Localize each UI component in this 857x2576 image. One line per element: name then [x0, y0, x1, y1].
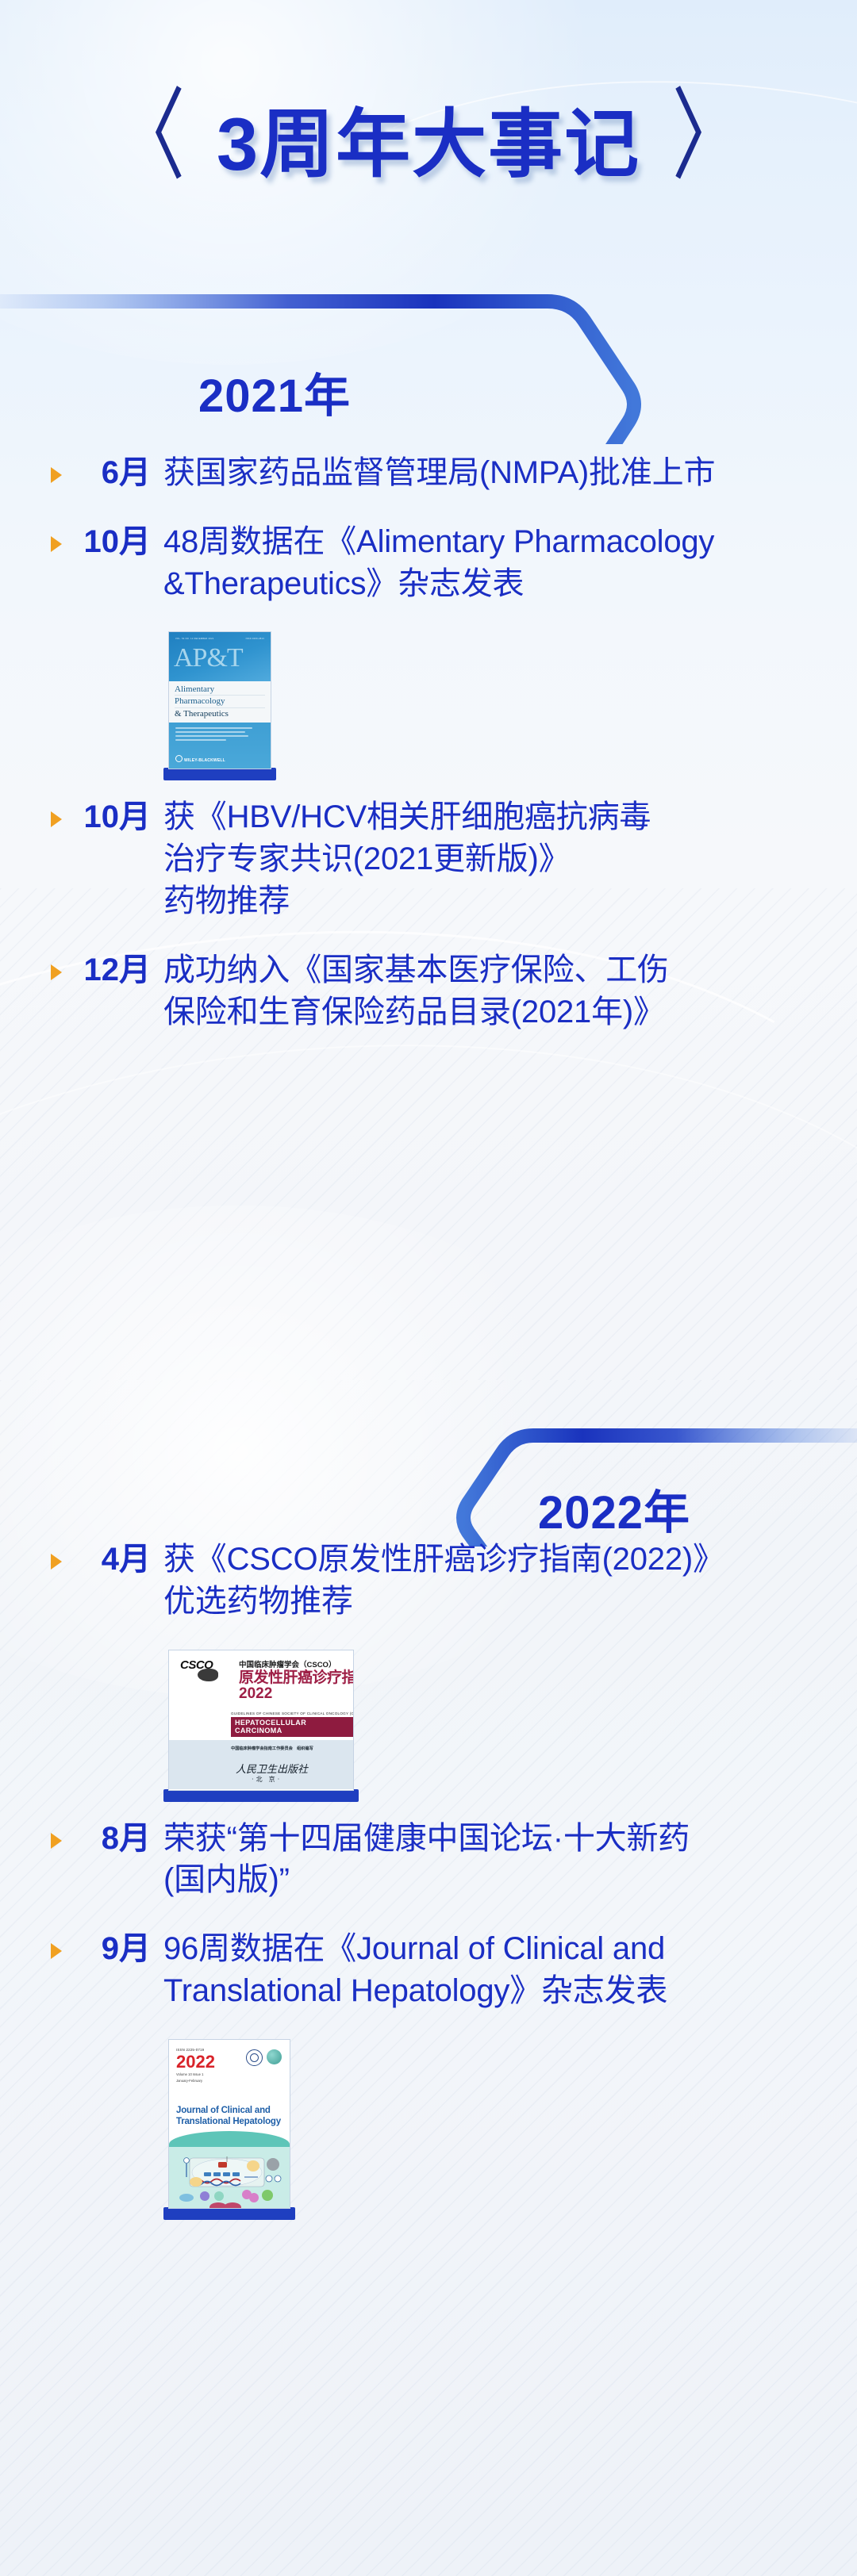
- book-cover-csco: CSCO 中国临床肿瘤学会（CSCO） 原发性肝癌诊疗指南 2022 GUIDE…: [168, 1650, 354, 1791]
- apt-title-line-2: Pharmacology: [175, 696, 265, 707]
- csco-publisher: 人民卫生出版社: [236, 1761, 308, 1776]
- year-banner-2021-shape: [0, 286, 857, 444]
- triangle-bullet-icon: [48, 1830, 68, 1851]
- csco-logo-word: CSCO: [180, 1658, 231, 1672]
- cover-slot-apt: VOL. 54 NO. 11 DECEMBER 2021 ISSN 0269-2…: [0, 631, 857, 769]
- event-text: 成功纳入《国家基本医疗保险、工伤 保险和生育保险药品目录(2021年)》: [163, 949, 669, 1033]
- infographic-page: 〈 3周年大事记 〉 2021年 6月: [0, 0, 857, 2576]
- year-banner-2021: 2021年: [0, 286, 857, 444]
- event-month: 6月: [75, 452, 151, 494]
- apt-issue-line: VOL. 54 NO. 11 DECEMBER 2021 ISSN 0269-2…: [175, 638, 264, 640]
- event-month: 12月: [75, 949, 151, 991]
- bracket-right-icon: 〉: [672, 88, 744, 188]
- csco-title: 原发性肝癌诊疗指南: [239, 1669, 354, 1687]
- society-badge-icon: [267, 2049, 282, 2064]
- jcth-cover-header: ISSN 2225-0719 2022 Volume 10 Issue 1 Ja…: [169, 2040, 290, 2105]
- triangle-bullet-icon: [48, 1941, 68, 1961]
- bracket-left-icon: 〈: [113, 88, 185, 188]
- event-line: 保险和生育保险药品目录(2021年)》: [163, 991, 669, 1033]
- event-line: 成功纳入《国家基本医疗保险、工伤: [163, 949, 669, 991]
- year-label-2022: 2022年: [538, 1475, 690, 1542]
- cover-slot-jcth: ISSN 2225-0719 2022 Volume 10 Issue 1 Ja…: [0, 2039, 857, 2209]
- jcth-title: Journal of Clinical and Translational He…: [169, 2105, 290, 2127]
- event-item: 8月 荣获“第十四届健康中国论坛·十大新药 (国内版)”: [0, 1818, 857, 1902]
- apt-logo: AP&T: [174, 645, 243, 672]
- event-text: 荣获“第十四届健康中国论坛·十大新药 (国内版)”: [163, 1818, 690, 1902]
- csco-cover-bottom: 中国临床肿瘤学会指南工作委员会 组织编写 人民卫生出版社 ·北 京·: [169, 1740, 353, 1789]
- jcth-cover-shadow: ISSN 2225-0719 2022 Volume 10 Issue 1 Ja…: [168, 2039, 290, 2209]
- jcth-title-line-2: Translational Hepatology: [176, 2116, 282, 2127]
- triangle-bullet-icon: [48, 962, 68, 983]
- jcth-volume: Volume 10 Issue 1: [176, 2072, 282, 2077]
- event-line: 48周数据在《Alimentary Pharmacology: [163, 521, 714, 563]
- csco-society: 中国临床肿瘤学会（CSCO）: [239, 1658, 354, 1669]
- csco-cover-shadow: CSCO 中国临床肿瘤学会（CSCO） 原发性肝癌诊疗指南 2022 GUIDE…: [168, 1650, 354, 1791]
- triangle-bullet-icon: [48, 465, 68, 485]
- page-title-block: 〈 3周年大事记 〉: [0, 82, 857, 194]
- apt-issue-left: VOL. 54 NO. 11 DECEMBER 2021: [175, 638, 214, 640]
- csco-logo: CSCO: [180, 1658, 231, 1703]
- journal-cover-jcth: ISSN 2225-0719 2022 Volume 10 Issue 1 Ja…: [168, 2039, 290, 2209]
- year-banner-2022-shape: [0, 1364, 857, 1547]
- event-item: 9月 96周数据在《Journal of Clinical and Transl…: [0, 1928, 857, 2012]
- apt-publisher-logo: WILEY-BLACKWELL: [175, 755, 225, 764]
- apt-issue-right: ISSN 0269-2813: [246, 638, 264, 640]
- event-item: 10月 获《HBV/HCV相关肝细胞癌抗病毒 治疗专家共识(2021更新版)》 …: [0, 796, 857, 922]
- event-line: 荣获“第十四届健康中国论坛·十大新药: [163, 1818, 690, 1860]
- event-item: 12月 成功纳入《国家基本医疗保险、工伤 保险和生育保险药品目录(2021年)》: [0, 949, 857, 1033]
- csco-year: 2022: [239, 1686, 354, 1702]
- apt-title-line-3: & Therapeutics: [175, 708, 265, 719]
- event-month: 4月: [75, 1539, 151, 1581]
- event-text: 96周数据在《Journal of Clinical and Translati…: [163, 1928, 667, 2012]
- triangle-bullet-icon: [48, 534, 68, 554]
- apt-cover-shadow: VOL. 54 NO. 11 DECEMBER 2021 ISSN 0269-2…: [168, 631, 271, 769]
- event-item: 4月 获《CSCO原发性肝癌诊疗指南(2022)》 优选药物推荐: [0, 1539, 857, 1623]
- jcth-title-line-1: Journal of Clinical and: [176, 2105, 282, 2116]
- csco-title-block: 中国临床肿瘤学会（CSCO） 原发性肝癌诊疗指南 2022: [239, 1658, 354, 1703]
- event-month: 10月: [75, 521, 151, 563]
- jcth-badges: [246, 2049, 282, 2066]
- event-line: 获国家药品监督管理局(NMPA)批准上市: [163, 452, 715, 494]
- apt-title-block: Alimentary Pharmacology & Therapeutics: [169, 681, 271, 722]
- event-list-2021: 6月 获国家药品监督管理局(NMPA)批准上市 10月 48周数据在《Alime…: [0, 452, 857, 1060]
- jcth-period: January-February: [176, 2079, 282, 2083]
- jcth-pathway-diagram-icon: [169, 2147, 290, 2209]
- event-line: 治疗专家共识(2021更新版)》: [163, 838, 651, 880]
- jcth-cover-figure: [169, 2147, 290, 2209]
- event-line: Translational Hepatology》杂志发表: [163, 1970, 667, 2012]
- apt-cover-footer: WILEY-BLACKWELL: [169, 723, 271, 769]
- event-text: 48周数据在《Alimentary Pharmacology &Therapeu…: [163, 521, 714, 605]
- csco-cover-top: CSCO 中国临床肿瘤学会（CSCO） 原发性肝癌诊疗指南 2022: [169, 1650, 353, 1703]
- event-list-2022: 4月 获《CSCO原发性肝癌诊疗指南(2022)》 优选药物推荐 CSCO 中国…: [0, 1539, 857, 2236]
- apt-cover-header: VOL. 54 NO. 11 DECEMBER 2021 ISSN 0269-2…: [169, 632, 271, 681]
- year-label-2021: 2021年: [198, 358, 351, 425]
- triangle-bullet-icon: [48, 1551, 68, 1572]
- event-text: 获《CSCO原发性肝癌诊疗指南(2022)》 优选药物推荐: [163, 1539, 724, 1623]
- doaj-badge-icon: [246, 2049, 263, 2066]
- event-month: 9月: [75, 1928, 151, 1970]
- csco-city: ·北 京·: [252, 1775, 282, 1784]
- year-banner-2022: 2022年: [0, 1364, 857, 1523]
- event-line: &Therapeutics》杂志发表: [163, 563, 714, 605]
- apt-title-line-1: Alimentary: [175, 684, 265, 696]
- event-line: 96周数据在《Journal of Clinical and: [163, 1928, 667, 1970]
- wiley-ring-icon: [175, 755, 183, 762]
- jcth-teal-wave: [169, 2131, 290, 2147]
- apt-blurb-lines: [175, 727, 263, 743]
- event-text: 获国家药品监督管理局(NMPA)批准上市: [163, 452, 715, 494]
- page-bottom-spacer: [0, 2544, 857, 2576]
- cover-slot-csco: CSCO 中国临床肿瘤学会（CSCO） 原发性肝癌诊疗指南 2022 GUIDE…: [0, 1650, 857, 1791]
- apt-publisher-name: WILEY-BLACKWELL: [184, 758, 225, 763]
- journal-cover-apt: VOL. 54 NO. 11 DECEMBER 2021 ISSN 0269-2…: [168, 631, 271, 769]
- event-month: 10月: [75, 796, 151, 838]
- triangle-bullet-icon: [48, 809, 68, 830]
- csco-org: 中国临床肿瘤学会指南工作委员会 组织编写: [231, 1746, 313, 1751]
- event-line: 药物推荐: [163, 880, 651, 922]
- event-line: 获《CSCO原发性肝癌诊疗指南(2022)》: [163, 1539, 724, 1581]
- event-line: (国内版)”: [163, 1859, 690, 1901]
- event-item: 6月 获国家药品监督管理局(NMPA)批准上市: [0, 452, 857, 494]
- csco-en-title-bar: HEPATOCELLULAR CARCINOMA: [231, 1717, 353, 1737]
- event-line: 获《HBV/HCV相关肝细胞癌抗病毒: [163, 796, 651, 838]
- page-title: 3周年大事记: [217, 84, 640, 192]
- event-month: 8月: [75, 1818, 151, 1860]
- event-line: 优选药物推荐: [163, 1581, 724, 1623]
- csco-en-subtitle: GUIDELINES OF CHINESE SOCIETY OF CLINICA…: [231, 1712, 353, 1715]
- event-text: 获《HBV/HCV相关肝细胞癌抗病毒 治疗专家共识(2021更新版)》 药物推荐: [163, 796, 651, 922]
- event-item: 10月 48周数据在《Alimentary Pharmacology &Ther…: [0, 521, 857, 605]
